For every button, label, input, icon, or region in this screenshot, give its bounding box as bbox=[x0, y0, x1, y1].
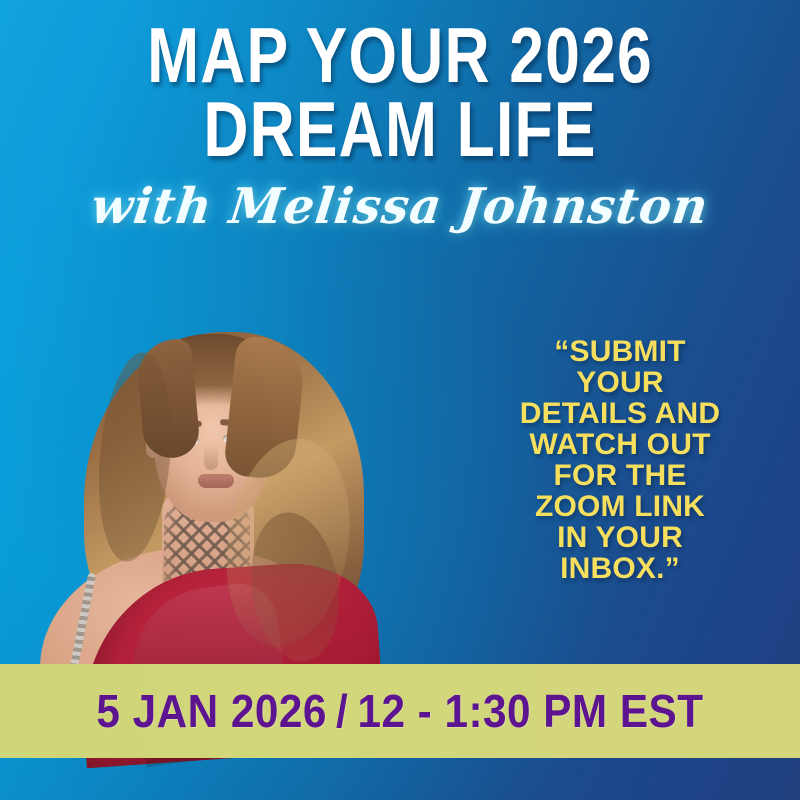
lips bbox=[198, 474, 234, 488]
banner-separator: / bbox=[327, 685, 358, 737]
event-date: 5 JAN 2026 bbox=[96, 685, 326, 737]
banner-text: 5 JAN 2026/12 - 1:30 PM EST bbox=[96, 684, 703, 738]
date-time-banner: 5 JAN 2026/12 - 1:30 PM EST bbox=[0, 664, 800, 758]
event-time: 12 - 1:30 PM EST bbox=[358, 685, 704, 737]
promo-poster: MAP YOUR 2026 DREAM LIFE with Melissa Jo… bbox=[0, 0, 800, 800]
nose bbox=[204, 444, 218, 470]
